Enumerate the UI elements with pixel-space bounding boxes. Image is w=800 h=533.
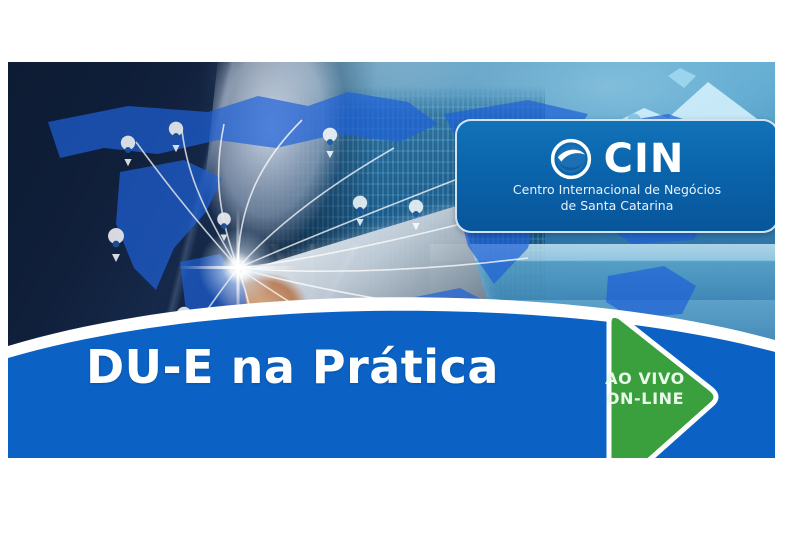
live-online-badge[interactable]: AO VIVO ON-LINE [591, 309, 721, 458]
cin-subtitle: Centro Internacional de Negócios de Sant… [513, 182, 721, 214]
promotional-banner: DU-E na Prática CIN Centro Internacional… [8, 62, 775, 458]
cin-logo-panel: CIN Centro Internacional de Negócios de … [455, 119, 775, 233]
cin-logo-lockup: CIN [550, 138, 685, 180]
page-title: DU-E na Prática [86, 340, 499, 394]
globe-swoosh-icon [550, 138, 592, 180]
cin-wordmark: CIN [604, 139, 685, 179]
banner-page: DU-E na Prática CIN Centro Internacional… [0, 0, 800, 533]
cin-subtitle-line1: Centro Internacional de Negócios [513, 182, 721, 198]
cin-subtitle-line2: de Santa Catarina [513, 198, 721, 214]
play-triangle-icon [591, 309, 721, 458]
